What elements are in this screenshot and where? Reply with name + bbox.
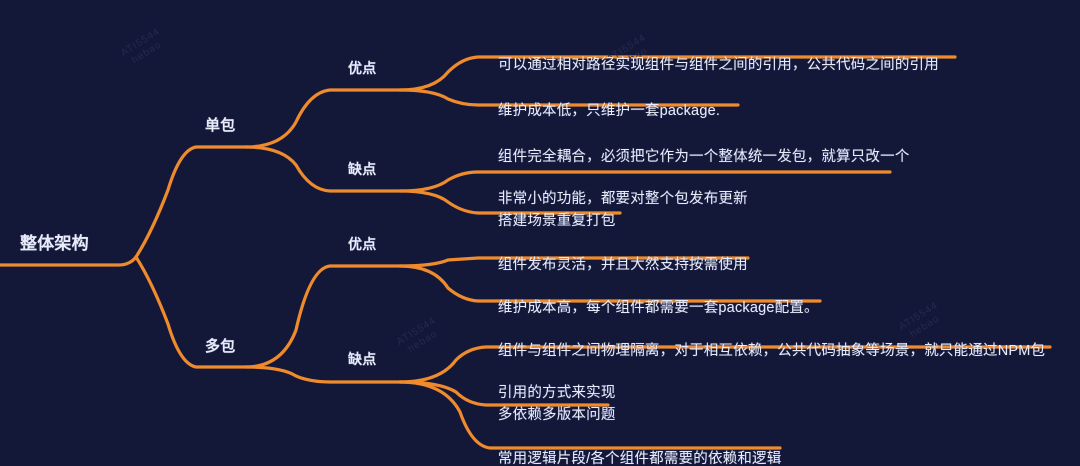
edge-duobao-quedian bbox=[246, 367, 400, 382]
mindmap-canvas: ATI5544 hebao ATI5544 hebao ATI5544 heba… bbox=[0, 0, 1080, 466]
edge-duobao-youdian bbox=[246, 266, 400, 367]
leaf-text-line: 组件与组件之间物理隔离，对于相互依赖，公共代码抽象等场景，就只能通过NPM包 bbox=[498, 343, 1045, 359]
edge-root-danbao bbox=[136, 147, 246, 257]
edge-danbao-youdian bbox=[246, 90, 400, 147]
leaf-text-line: 可以通过相对路径实现组件与组件之间的引用，公共代码之间的引用 bbox=[498, 57, 939, 73]
mindmap-node-danbao[interactable]: 单包 bbox=[205, 115, 235, 136]
mindmap-node-danbao-youdian[interactable]: 优点 bbox=[348, 58, 376, 79]
edge-danbao-quedian bbox=[246, 147, 400, 191]
leaf-text-line: 组件发布灵活，并且大然支持按需使用 bbox=[498, 257, 748, 273]
leaf-text-line: 搭建场景重复打包 bbox=[498, 213, 616, 229]
mindmap-node-danbao-quedian[interactable]: 缺点 bbox=[348, 159, 376, 180]
mindmap-node-root[interactable]: 整体架构 bbox=[20, 233, 89, 254]
mindmap-node-duobao-quedian[interactable]: 缺点 bbox=[348, 349, 376, 370]
leaf-text-line: 维护成本低，只维护一套package. bbox=[498, 103, 720, 119]
leaf-text-line: 常用逻辑片段/各个组件都需要的依赖和逻辑 bbox=[498, 451, 782, 466]
mindmap-leaf-9[interactable]: 常用逻辑片段/各个组件都需要的依赖和逻辑 bbox=[481, 428, 781, 466]
leaf-text-line: 维护成本高，每个组件都需要一套package配置。 bbox=[498, 300, 819, 316]
watermark: ATI5544 hebao bbox=[395, 315, 445, 359]
mindmap-node-duobao-youdian[interactable]: 优点 bbox=[348, 234, 376, 255]
root-underline bbox=[0, 257, 136, 265]
leaf-text-line: 多依赖多版本问题 bbox=[498, 407, 616, 423]
mindmap-node-duobao[interactable]: 多包 bbox=[205, 336, 235, 357]
watermark: ATI5544 hebao bbox=[119, 26, 169, 70]
leaf-text-line: 组件完全耦合，必须把它作为一个整体统一发包，就算只改一个 bbox=[498, 149, 910, 165]
